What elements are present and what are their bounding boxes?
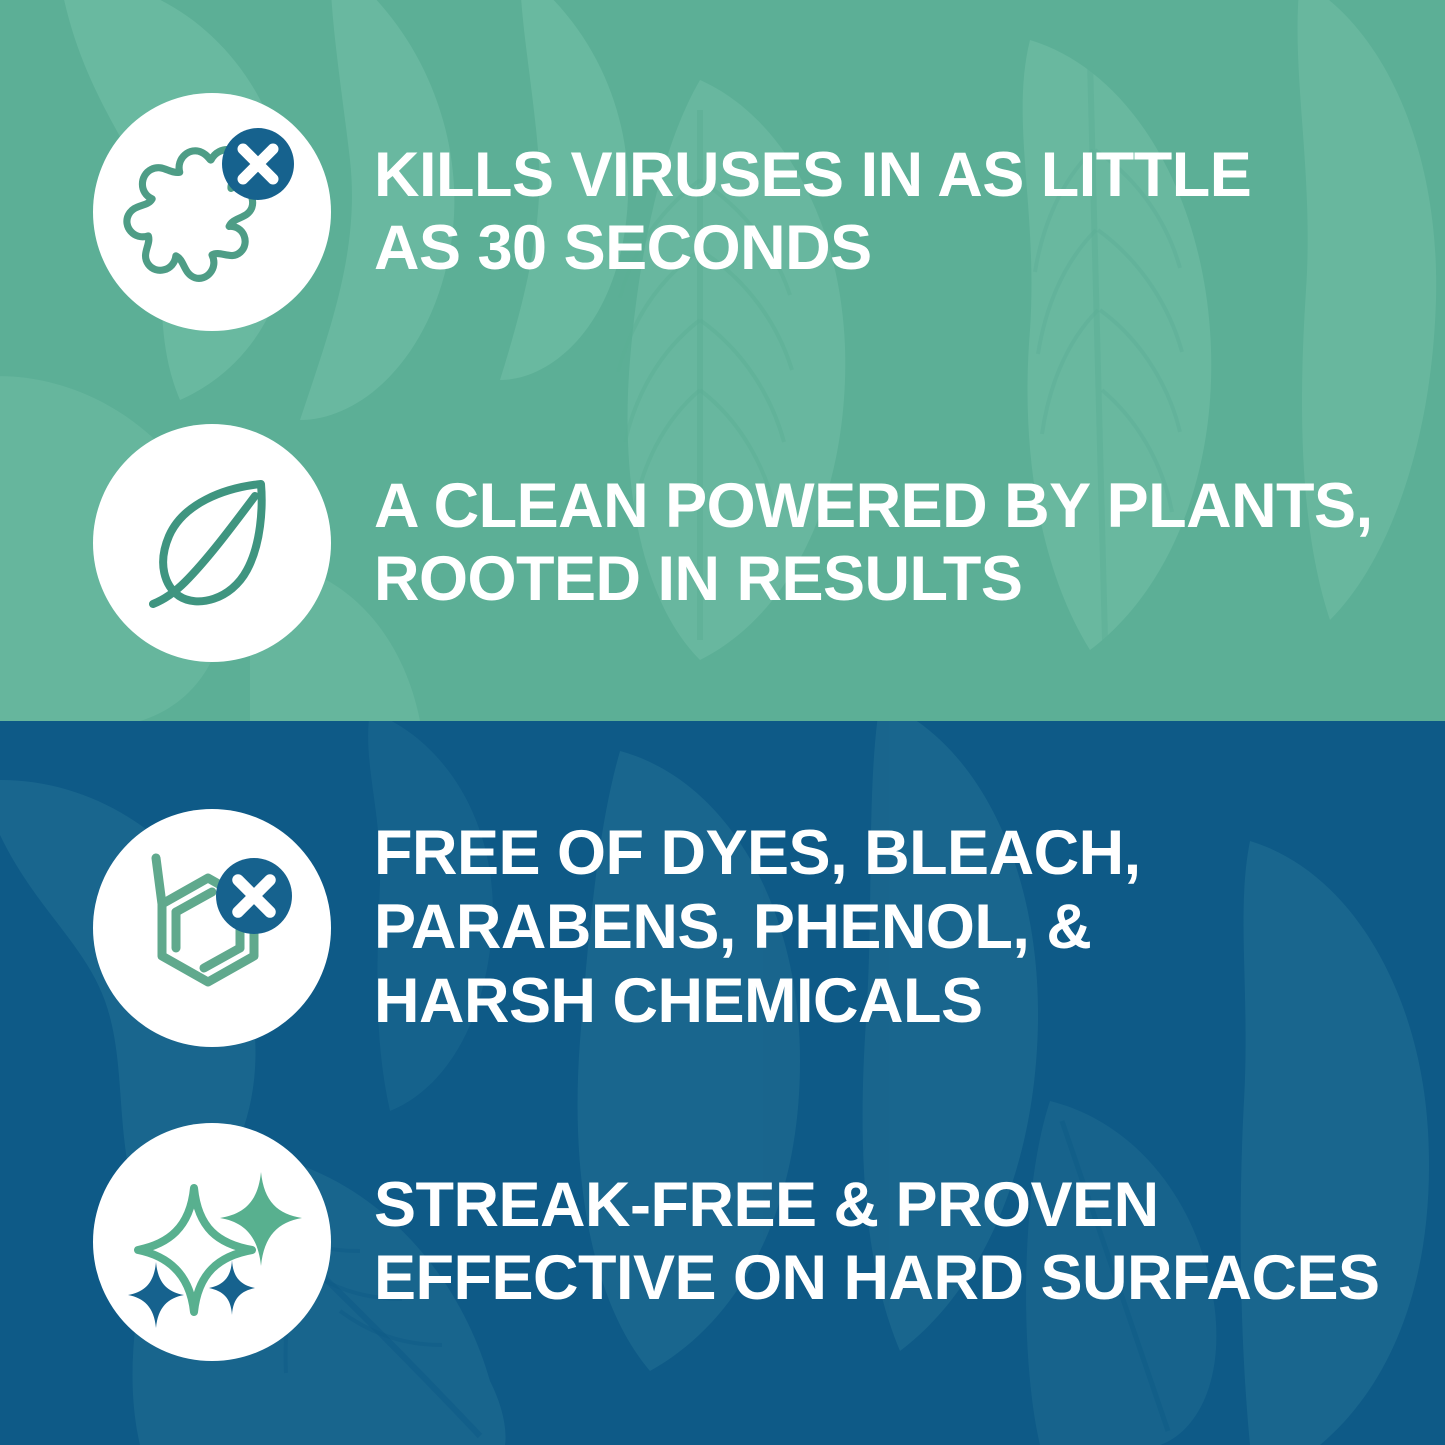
infographic-canvas: KILLS VIRUSES IN AS LITTLE AS 30 SECONDS… xyxy=(0,0,1445,1445)
benefit-text-3: FREE OF DYES, BLEACH, PARABENS, PHENOL, … xyxy=(374,817,1445,1038)
chemical-hexagon-blocked-icon xyxy=(120,836,305,1021)
virus-blocked-icon xyxy=(117,117,307,307)
benefit-row-1: KILLS VIRUSES IN AS LITTLE AS 30 SECONDS xyxy=(0,92,1445,332)
benefit-text-1: KILLS VIRUSES IN AS LITTLE AS 30 SECONDS xyxy=(374,139,1445,285)
benefit-icon-badge-2 xyxy=(93,424,331,662)
benefit-text-4: STREAK-FREE & PROVEN EFFECTIVE ON HARD S… xyxy=(374,1169,1445,1315)
benefit-row-4: STREAK-FREE & PROVEN EFFECTIVE ON HARD S… xyxy=(0,1122,1445,1362)
benefit-row-2: A CLEAN POWERED BY PLANTS, ROOTED IN RES… xyxy=(0,423,1445,663)
benefit-icon-badge-4 xyxy=(93,1123,331,1361)
benefit-text-2: A CLEAN POWERED BY PLANTS, ROOTED IN RES… xyxy=(374,470,1445,616)
x-badge-icon xyxy=(216,858,292,934)
sparkle-shine-icon xyxy=(122,1152,302,1332)
leaf-icon xyxy=(127,458,297,628)
x-badge-icon xyxy=(222,128,294,200)
benefit-row-3: FREE OF DYES, BLEACH, PARABENS, PHENOL, … xyxy=(0,808,1445,1048)
benefit-icon-badge-3 xyxy=(93,809,331,1047)
benefit-icon-badge-1 xyxy=(93,93,331,331)
